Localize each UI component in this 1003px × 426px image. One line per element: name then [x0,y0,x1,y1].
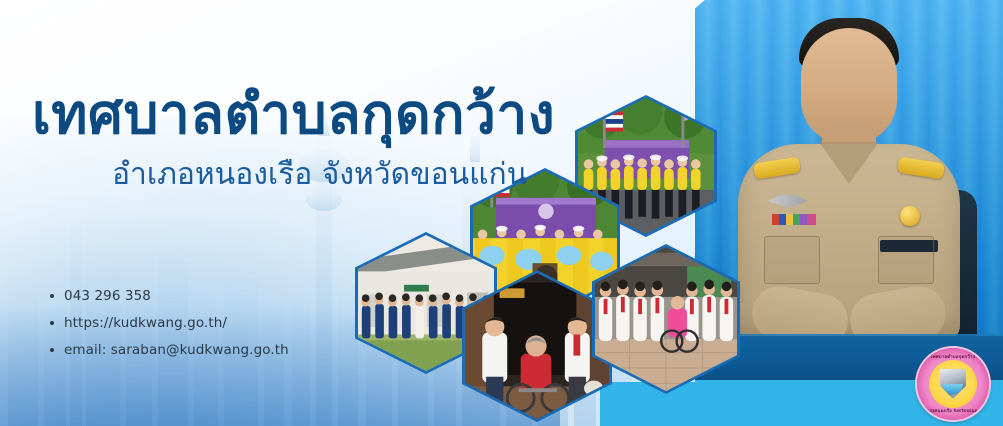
seal-text-bottom: อำเภอหนองเรือ จังหวัดขอนแก่น [917,407,989,414]
banner-root: เทศบาลตำบลกุดกว้าง อำเภอหนองเรือ จังหวัด… [0,0,1003,426]
contact-item-website[interactable]: https://kudkwang.go.th/ [46,315,289,331]
contact-item-email[interactable]: email: saraban@kudkwang.go.th [46,342,289,358]
contact-item-phone: 043 296 358 [46,288,289,304]
contact-list: 043 296 358 https://kudkwang.go.th/ emai… [46,288,289,369]
page-subtitle: อำเภอหนองเรือ จังหวัดขอนแก่น [112,158,527,191]
page-title: เทศบาลตำบลกุดกว้าง [32,86,555,144]
epaulette-right-icon [897,157,945,180]
seal-text-top: เทศบาลตำบลกุดกว้าง [917,353,989,360]
epaulette-left-icon [753,157,801,180]
wing-badge-icon [768,194,808,208]
uniform-pocket-right [878,236,934,284]
gold-medal-icon [900,206,920,226]
portrait-uniform [738,144,960,340]
official-portrait [695,20,1003,340]
municipality-seal-logo: เทศบาลตำบลกุดกว้าง อำเภอหนองเรือ จังหวัด… [917,348,989,420]
service-ribbons-icon [772,214,816,225]
seal-inner-disc [929,360,977,408]
seal-shield-icon [940,369,966,399]
uniform-pocket-left [764,236,820,284]
portrait-panel: เทศบาลตำบลกุดกว้าง อำเภอหนองเรือ จังหวัด… [695,0,1003,426]
